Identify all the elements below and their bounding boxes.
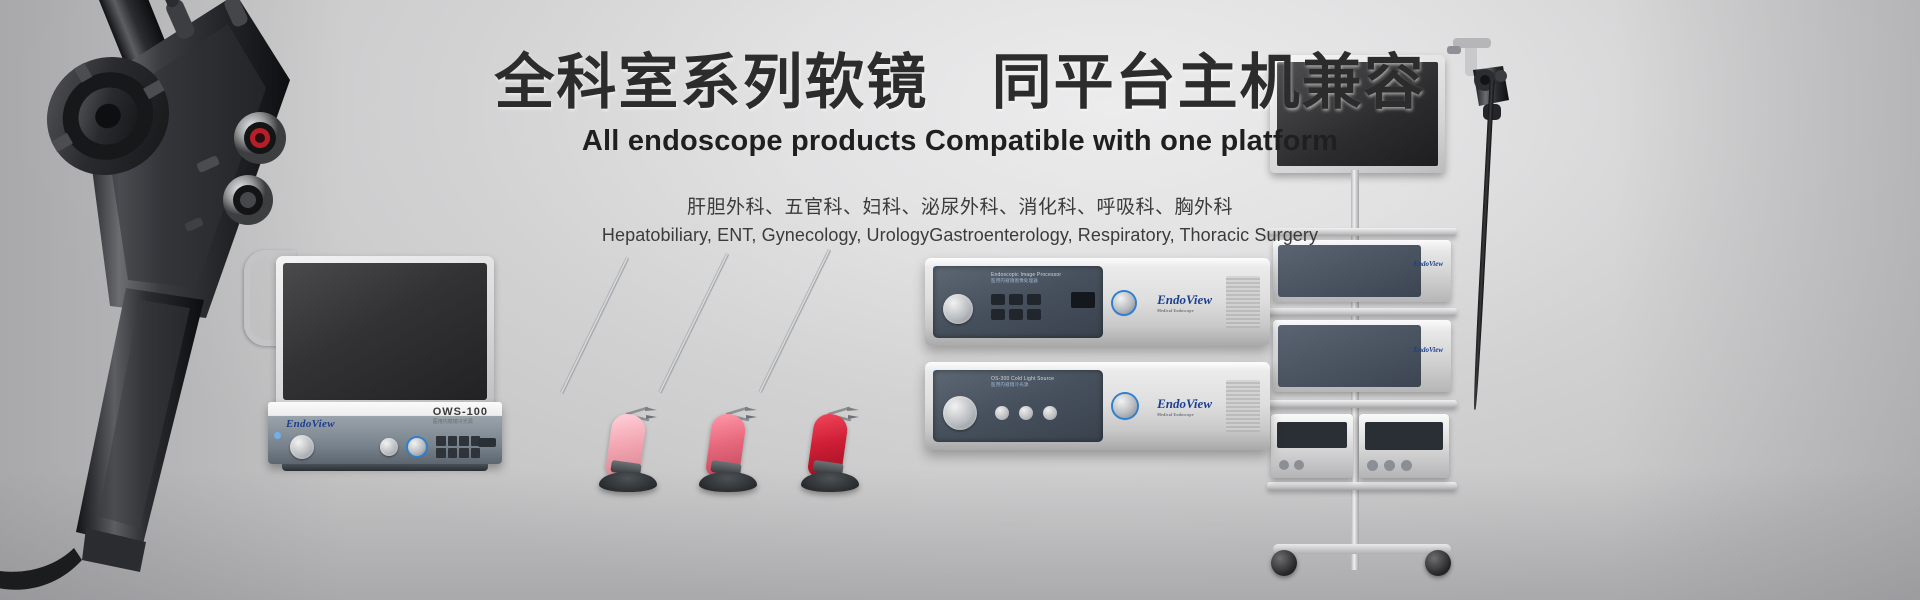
processor-main-knob[interactable] [943,294,973,324]
cart-device-button[interactable] [1384,460,1395,471]
product-banner: OWS-100 医用内窥镜冷光源 EndoView [0,0,1920,600]
processor-button[interactable] [1027,294,1041,305]
processor-panel-subtitle-text: 医用内窥镜图像处理器 [991,278,1061,284]
headline-chinese-part1: 全科室系列软镜 [494,49,928,116]
cart-device-buttons[interactable] [1279,460,1304,470]
subtitle-chinese: 肝胆外科、五官科、妇科、泌尿外科、消化科、呼吸科、胸外科 [0,192,1920,219]
processor-usb-port[interactable] [1071,292,1095,308]
cart-shelf [1267,400,1457,408]
keypad-key[interactable] [459,448,469,458]
headline-chinese-part2: 同平台主机兼容 [992,49,1426,116]
instrument-base [801,472,859,492]
instrument-shaft [759,249,831,392]
keypad-key[interactable] [448,436,458,446]
banner-text-block: 全科室系列软镜 同平台主机兼容 All endoscope products C… [0,48,1920,246]
processor-brand-subtext: Medical Endoscope [1157,308,1212,313]
light-source-brightness-knob[interactable] [943,396,977,430]
light-source-brand-text: EndoView [1157,396,1212,411]
light-source-button-row[interactable] [995,406,1057,420]
cold-light-source-unit: OS-300 Cold Light Source 医用内窥镜冷光源 EndoVi… [925,362,1270,450]
keypad-key[interactable] [459,436,469,446]
cart-wheel [1271,550,1297,576]
cart-shelf [1267,308,1457,316]
light-source-brand: EndoView Medical Endoscope [1157,396,1212,417]
cart-device-brand: EndoView [1413,346,1443,354]
light-source-vent [1226,380,1260,432]
processor-button[interactable] [1009,294,1023,305]
console-base [282,464,488,471]
cart-device-panel [1278,325,1421,387]
light-source-panel-title: OS-300 Cold Light Source 医用内窥镜冷光源 [991,376,1054,388]
keypad-key[interactable] [471,448,481,458]
console-model-text: OWS-100 [433,406,488,418]
processor-button[interactable] [1027,309,1041,320]
cart-device-light-source: EndoView [1273,320,1451,392]
cart-device-buttons[interactable] [1367,460,1412,471]
light-source-brand-subtext: Medical Endoscope [1157,412,1212,417]
console-port-2[interactable] [408,438,426,456]
processor-button[interactable] [1009,309,1023,320]
console-display-screen [283,263,487,400]
image-processor-unit: Endoscopic Image Processor 医用内窥镜图像处理器 En… [925,258,1270,346]
console-status-led [274,432,281,439]
light-source-button[interactable] [1043,406,1057,420]
light-source-panel-subtitle-text: 医用内窥镜冷光源 [991,382,1054,388]
cart-device-display [1365,422,1443,450]
cart-device-button[interactable] [1294,460,1304,470]
processor-panel-title: Endoscopic Image Processor 医用内窥镜图像处理器 [991,272,1061,284]
console-display-bezel [276,256,494,406]
cart-shelf [1267,482,1457,490]
cart-device-pump [1359,414,1449,478]
keypad-key[interactable] [436,436,446,446]
processor-brand: EndoView Medical Endoscope [1157,292,1212,313]
console-port-1[interactable] [380,438,398,456]
light-source-front-panel: OS-300 Cold Light Source 医用内窥镜冷光源 [933,370,1103,442]
cart-device-button[interactable] [1401,460,1412,471]
headline-chinese: 全科室系列软镜 同平台主机兼容 [0,48,1920,117]
light-source-button[interactable] [995,406,1009,420]
processor-aux-port[interactable] [1071,314,1095,324]
console-brand-label: EndoView [286,418,335,430]
processor-button-grid[interactable] [991,294,1041,320]
cart-device-panel [1278,245,1421,297]
cart-device-button[interactable] [1367,460,1378,471]
processor-vent [1226,276,1260,328]
cart-device-insufflator [1271,414,1353,478]
processor-brand-text: EndoView [1157,292,1212,307]
processor-scope-socket[interactable] [1113,292,1135,314]
console-control-panel: OWS-100 医用内窥镜冷光源 EndoView [268,402,502,464]
cart-base-frame [1273,544,1451,554]
processor-button[interactable] [991,294,1005,305]
laparoscopic-instrument-crimson [707,250,867,488]
console-power-button[interactable] [478,438,496,447]
processor-stack: Endoscopic Image Processor 医用内窥镜图像处理器 En… [925,258,1270,470]
cart-device-display [1277,422,1347,448]
cart-device-image-processor: EndoView [1273,240,1451,302]
console-model-subtext: 医用内窥镜冷光源 [433,418,488,425]
processor-button[interactable] [991,309,1005,320]
cart-device-button[interactable] [1279,460,1289,470]
headline-english: All endoscope products Compatible with o… [0,125,1920,158]
cart-wheel [1425,550,1451,576]
console-model-label: OWS-100 医用内窥镜冷光源 [433,406,488,425]
subtitle-english: Hepatobiliary, ENT, Gynecology, UrologyG… [0,225,1920,246]
console-keypad[interactable] [436,436,480,458]
console-knob-main[interactable] [290,435,314,459]
keypad-key[interactable] [448,448,458,458]
endoscopy-monitor-console: OWS-100 医用内窥镜冷光源 EndoView [238,250,538,480]
keypad-key[interactable] [436,448,446,458]
light-source-button[interactable] [1019,406,1033,420]
processor-front-panel: Endoscopic Image Processor 医用内窥镜图像处理器 [933,266,1103,338]
light-source-fiber-socket[interactable] [1113,394,1137,418]
cart-device-brand: EndoView [1413,260,1443,268]
